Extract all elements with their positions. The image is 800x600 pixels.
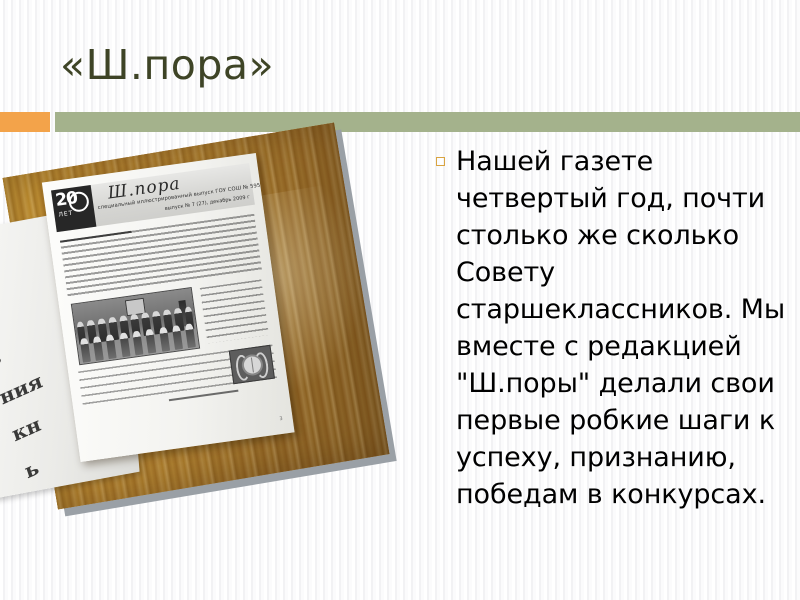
newspaper-photograph: в д ь ния кн ь 20 ЛЕТ Ш.пора специальный… [3, 123, 390, 510]
anniversary-badge: 20 ЛЕТ [51, 185, 96, 232]
photo-person [185, 323, 196, 348]
slide-canvas: «Ш.пора» в д ь ния кн ь 20 ЛЕТ Ш.пора [0, 0, 800, 600]
photo-person [106, 334, 117, 359]
body-paragraph: Нашей газете четвертый год, почти стольк… [456, 143, 792, 513]
photo-person [159, 327, 170, 352]
divider-accent-block [0, 112, 50, 132]
photo-person [79, 338, 90, 363]
photo-person [132, 330, 143, 355]
newspaper-page-number: 3 [279, 416, 283, 422]
photo-person [119, 332, 130, 357]
photo-person [172, 325, 183, 350]
photo-person [93, 336, 104, 361]
square-bullet-icon [436, 157, 445, 166]
content-bullet-block: Нашей газете четвертый год, почти стольк… [432, 143, 792, 513]
un-emblem-icon [229, 345, 275, 384]
badge-label: ЛЕТ [58, 210, 74, 219]
divider-bar [55, 112, 800, 132]
divider [0, 112, 800, 132]
page-title: «Ш.пора» [60, 36, 760, 96]
photo-person [145, 329, 156, 354]
newspaper-group-photo [71, 287, 200, 365]
newspaper-side-column [200, 279, 269, 343]
newspaper-page: 20 ЛЕТ Ш.пора специальный иллюстрированн… [42, 153, 295, 462]
